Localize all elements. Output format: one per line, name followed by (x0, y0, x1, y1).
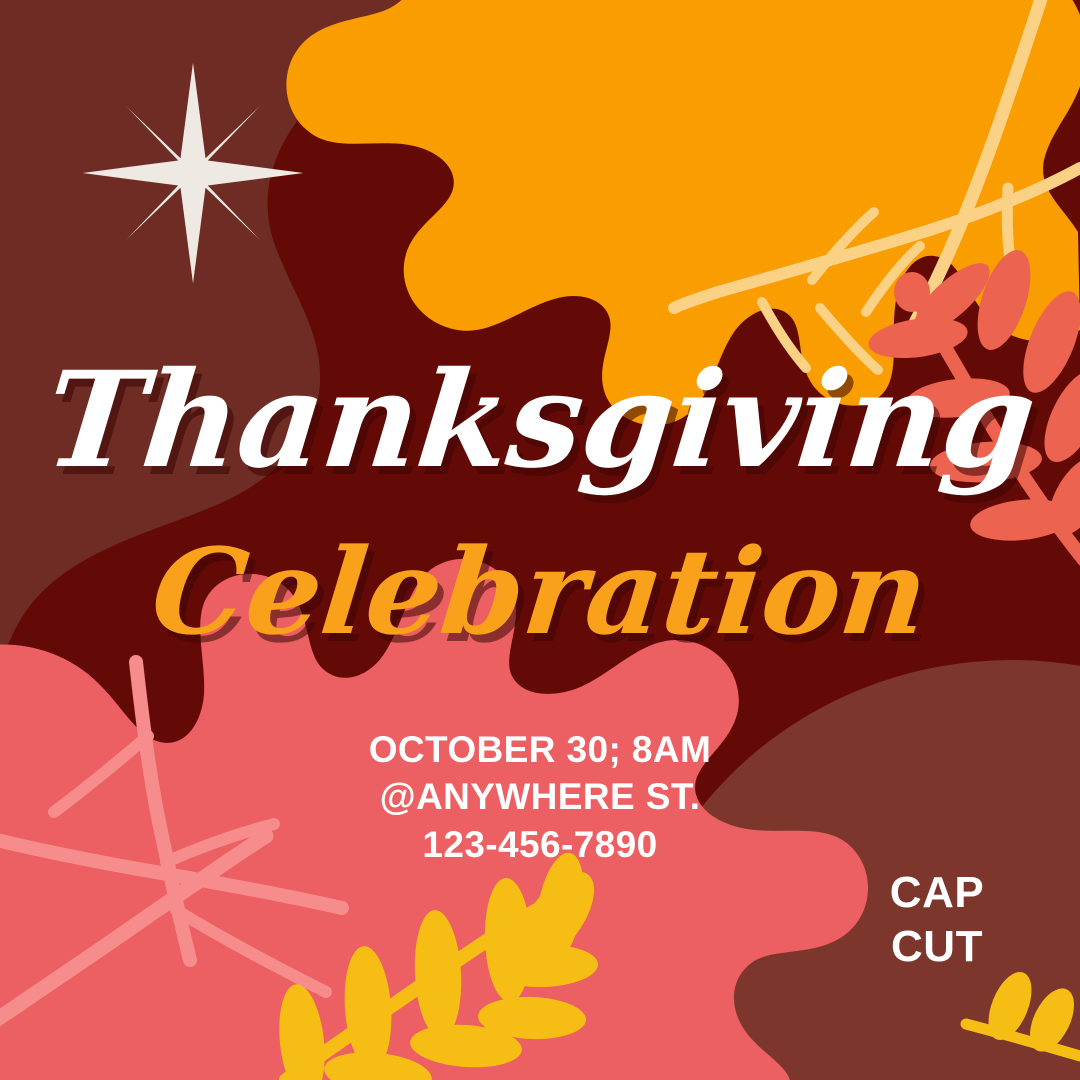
event-location: @ANYWHERE ST. (0, 773, 1080, 820)
capcut-watermark: CAP CUT (862, 866, 1012, 973)
event-phone: 123-456-7890 (0, 821, 1080, 868)
page-title: Thanksgiving (0, 352, 1080, 491)
thanksgiving-poster: Thanksgiving Celebration OCTOBER 30; 8AM… (0, 0, 1080, 1080)
page-subtitle: Celebration (0, 530, 1080, 654)
event-date-time: OCTOBER 30; 8AM (0, 726, 1080, 773)
poster-text-content: Thanksgiving Celebration OCTOBER 30; 8AM… (0, 0, 1080, 1080)
capcut-line-1: CAP (862, 866, 1012, 920)
event-details: OCTOBER 30; 8AM @ANYWHERE ST. 123-456-78… (0, 726, 1080, 868)
capcut-line-2: CUT (862, 920, 1012, 974)
